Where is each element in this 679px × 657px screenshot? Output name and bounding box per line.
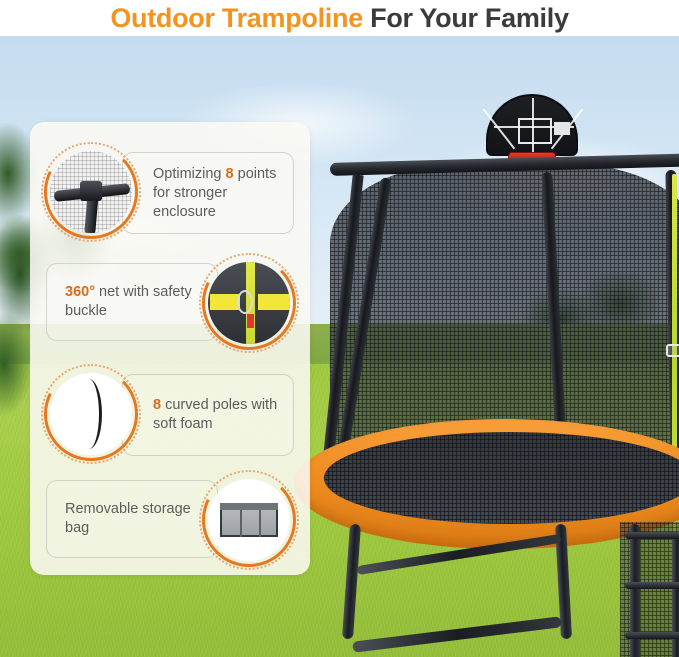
feature-text-suffix: Removable storage bag	[65, 501, 191, 536]
storage-bag-icon	[202, 473, 296, 567]
backboard-line	[483, 109, 515, 150]
ladder-rung	[625, 632, 679, 639]
page-header: Outdoor Trampoline For Your Family	[0, 0, 679, 36]
jumping-mat	[324, 432, 679, 524]
feature-text: Removable storage bag	[65, 500, 217, 538]
support-leg	[342, 524, 361, 639]
basketball-backboard-icon	[486, 94, 578, 156]
feature-text-suffix: curved poles with soft foam	[153, 397, 277, 432]
trampoline-product	[300, 54, 679, 657]
zipper-slider-icon	[666, 344, 679, 357]
feature-item-storage-bag: Removable storage bag	[30, 464, 310, 572]
title-highlight: Outdoor Trampoline	[110, 3, 363, 33]
backboard-badge	[554, 122, 570, 135]
feature-card: Optimizing 8 points for stronger enclosu…	[122, 152, 294, 234]
feature-item-curved-poles: 8 curved poles with soft foam	[30, 358, 310, 466]
title-rest: For Your Family	[363, 3, 569, 33]
feature-item-enclosure-points: Optimizing 8 points for stronger enclosu…	[30, 136, 310, 248]
feature-text: Optimizing 8 points for stronger enclosu…	[153, 165, 293, 222]
feature-highlight: 360°	[65, 284, 95, 300]
feature-text: 360° net with safety buckle	[65, 283, 217, 321]
feature-text-prefix: Optimizing	[153, 166, 226, 182]
tee-connector-icon	[44, 145, 138, 239]
feature-card: 8 curved poles with soft foam	[122, 374, 294, 456]
curved-pole-icon	[44, 367, 138, 461]
ladder-rung	[625, 582, 679, 589]
ladder-rung	[625, 532, 679, 539]
backboard-square	[518, 118, 552, 144]
feature-card: Removable storage bag	[46, 480, 218, 558]
feature-panel: Optimizing 8 points for stronger enclosu…	[30, 122, 310, 575]
feature-text: 8 curved poles with soft foam	[153, 396, 293, 434]
feature-highlight: 8	[226, 166, 234, 182]
page-title: Outdoor Trampoline For Your Family	[110, 3, 568, 34]
buckle-strap-icon	[202, 256, 296, 350]
support-leg	[352, 616, 562, 653]
access-ladder	[625, 524, 679, 657]
feature-item-safety-net: 360° net with safety buckle	[30, 247, 310, 357]
feature-card: 360° net with safety buckle	[46, 263, 218, 341]
feature-highlight: 8	[153, 397, 161, 413]
